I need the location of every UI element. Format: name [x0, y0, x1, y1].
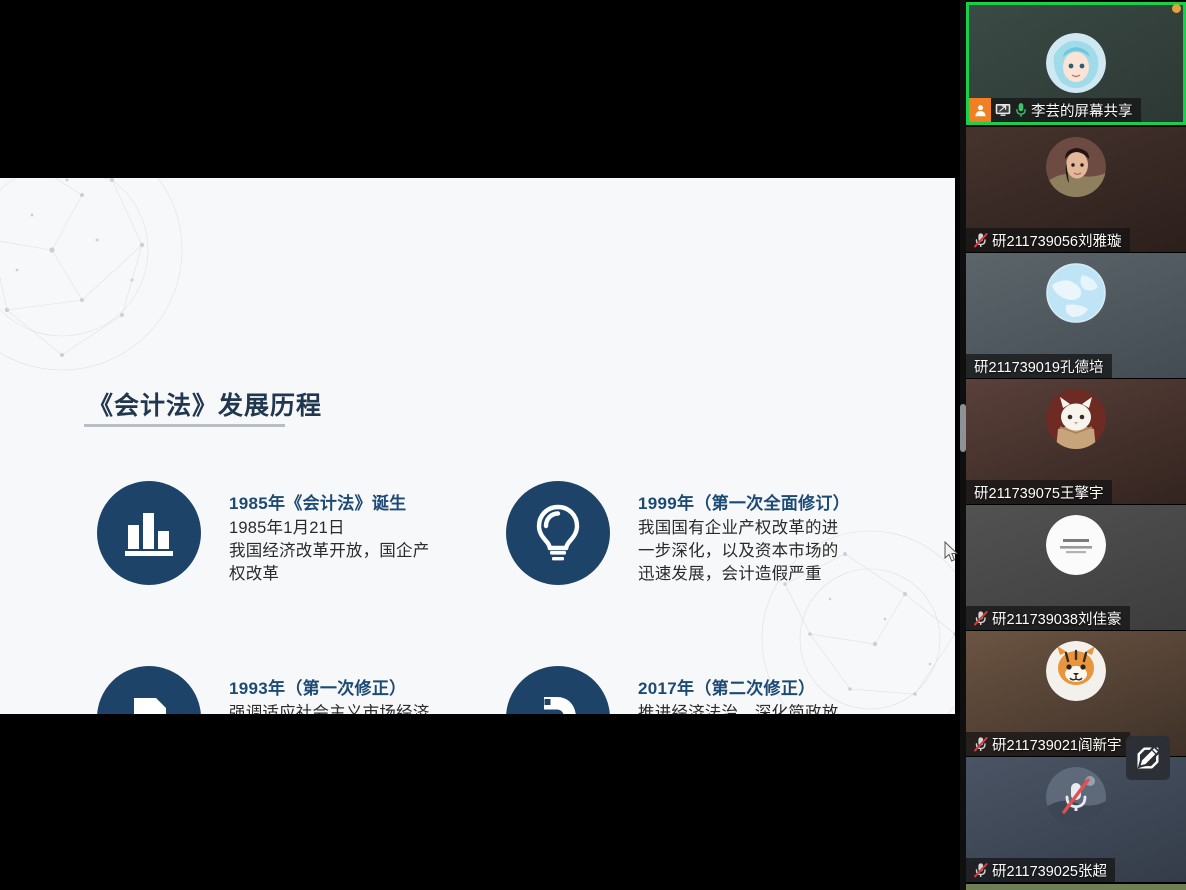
participant-name: 研211739075王擎宇 [974, 482, 1104, 503]
slide-title: 《会计法》发展历程 [88, 386, 322, 422]
screen-share-icon [995, 103, 1011, 117]
timeline-item-heading: 1993年（第一次修正） [229, 674, 479, 699]
microphone-muted-icon [974, 610, 988, 626]
participant-name: 研211739025张超 [992, 860, 1107, 881]
timeline-item-heading: 1985年《会计法》诞生 [229, 489, 479, 514]
microphone-muted-icon [974, 736, 988, 752]
shared-screen-stage[interactable]: 《会计法》发展历程 1985年《会计法》诞生 1985年1月21日 我国经济改革… [0, 0, 960, 890]
avatar [1046, 767, 1106, 827]
participant-tile-active[interactable]: 李芸的屏幕共享 [966, 2, 1186, 125]
magnet-icon [533, 692, 583, 714]
icon-circle [97, 481, 201, 585]
participant-tile[interactable]: 研211739056刘雅璇 [966, 127, 1186, 252]
timeline-item-heading: 1999年（第一次全面修订） [638, 489, 878, 514]
avatar [1046, 641, 1106, 701]
recording-status-dot [1172, 4, 1181, 13]
microphone-muted-icon [974, 232, 988, 248]
avatar [1046, 33, 1106, 93]
mouse-cursor-icon [944, 541, 960, 563]
avatar [1046, 263, 1106, 323]
anime-avatar-icon [1046, 33, 1106, 93]
photo-avatar-icon [1046, 137, 1106, 197]
participant-namebar: 研211739025张超 [966, 858, 1115, 882]
participant-tile[interactable]: 研211739075王擎宇 [966, 379, 1186, 504]
next-participant-tile-partial[interactable] [966, 884, 1186, 890]
participant-name: 研211739056刘雅璇 [992, 230, 1122, 251]
annotate-button[interactable] [1126, 736, 1170, 780]
text-avatar-icon [1046, 515, 1106, 575]
presentation-slide[interactable]: 《会计法》发展历程 1985年《会计法》诞生 1985年1月21日 我国经济改革… [0, 178, 955, 714]
timeline-item-body: 1999年（第一次全面修订） 我国国有企业产权改革的进 一步深化，以及资本市场的… [638, 489, 878, 585]
muted-mic-avatar-icon [1046, 767, 1106, 827]
timeline-item-body: 1993年（第一次修正） 强调适应社会主义市场经济 的需要和与国际惯例接轨 [229, 674, 479, 714]
document-upload-icon [125, 690, 173, 714]
timeline-item-description: 1985年1月21日 我国经济改革开放，国企产 权改革 [229, 517, 479, 585]
timeline-item-heading: 2017年（第二次修正） [638, 674, 878, 699]
timeline-item-description: 我国国有企业产权改革的进 一步深化，以及资本市场的 迅速发展，会计造假严重 [638, 517, 878, 585]
participant-namebar: 研211739075王擎宇 [966, 480, 1112, 504]
participant-namebar: 李芸的屏幕共享 [969, 98, 1141, 122]
avatar [1046, 389, 1106, 449]
icon-circle [506, 481, 610, 585]
avatar [1046, 137, 1106, 197]
participant-namebar: 研211739056刘雅璇 [966, 228, 1130, 252]
microphone-muted-icon [974, 862, 988, 878]
participant-namebar: 研211739038刘佳豪 [966, 606, 1130, 630]
icon-circle [506, 666, 610, 714]
scrollbar-thumb[interactable] [960, 404, 966, 452]
participant-tile[interactable]: 研211739038刘佳豪 [966, 505, 1186, 630]
timeline-item-description: 推进经济法治、深化简政放 权、实现依法治国的目标 [638, 702, 878, 714]
cat-avatar-icon [1046, 389, 1106, 449]
participant-name: 研211739038刘佳豪 [992, 608, 1122, 629]
icon-circle [97, 666, 201, 714]
slide-title-underline [84, 424, 285, 427]
microphone-on-icon [1015, 102, 1027, 118]
avatar [1046, 515, 1106, 575]
participant-name: 研211739019孔德培 [974, 356, 1104, 377]
timeline-item-description: 强调适应社会主义市场经济 的需要和与国际惯例接轨 [229, 702, 479, 714]
host-badge-icon [969, 98, 991, 122]
timeline-item-body: 2017年（第二次修正） 推进经济法治、深化简政放 权、实现依法治国的目标 [638, 674, 878, 714]
constellation-texture-icon [0, 178, 192, 380]
participant-tile[interactable]: 研211739019孔德培 [966, 253, 1186, 378]
participant-namebar: 研211739019孔德培 [966, 354, 1112, 378]
tiger-avatar-icon [1046, 641, 1106, 701]
participant-name: 研211739021阎新宇 [992, 734, 1122, 755]
lightbulb-icon [535, 504, 581, 562]
earth-avatar-icon [1046, 263, 1106, 323]
meeting-screen-share-window: 《会计法》发展历程 1985年《会计法》诞生 1985年1月21日 我国经济改革… [0, 0, 1186, 890]
bar-chart-icon [122, 509, 176, 557]
participant-panel-scrollbar[interactable] [960, 0, 966, 890]
participant-name: 李芸的屏幕共享 [1031, 100, 1133, 121]
participant-namebar: 研211739021阎新宇 [966, 732, 1130, 756]
timeline-item-body: 1985年《会计法》诞生 1985年1月21日 我国经济改革开放，国企产 权改革 [229, 489, 479, 585]
pen-annotate-icon [1135, 745, 1161, 771]
person-icon [974, 104, 987, 117]
